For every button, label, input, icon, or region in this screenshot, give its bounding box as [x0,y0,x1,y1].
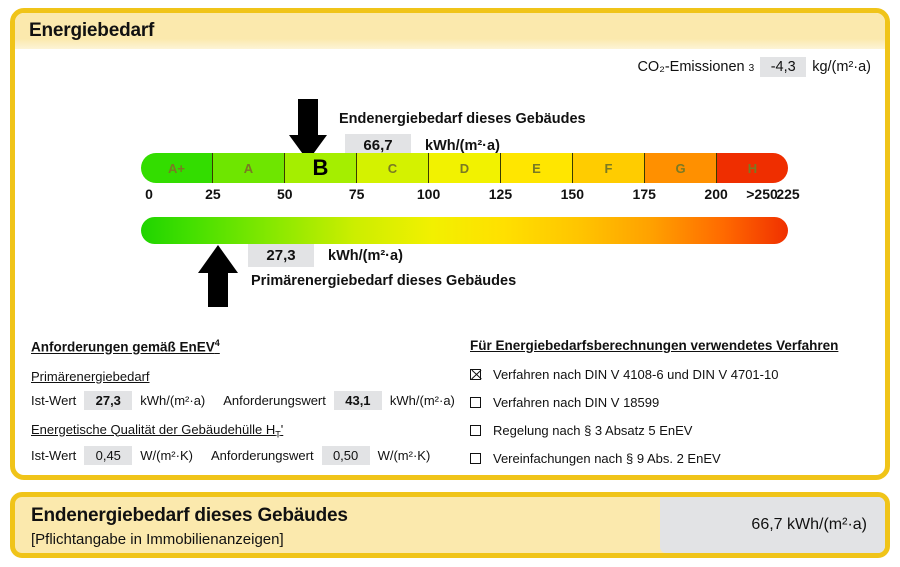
primary-required-value: 43,1 [334,391,382,410]
envelope-subheading-prime: ' [281,422,283,437]
checkbox-icon[interactable] [470,397,481,408]
energy-class-label: G [675,161,685,176]
method-heading: Für Energiebedarfsberechnungen verwendet… [470,338,880,353]
checkbox-checked-icon[interactable] [470,369,481,380]
envelope-actual-label: Ist-Wert [31,448,76,463]
final-energy-unit: kWh/(m²·a) [425,138,500,154]
footer-subtitle: [Pflichtangabe in Immobilienanzeigen] [31,531,348,548]
final-energy-label: Endenergiebedarf dieses Gebäudes [339,111,586,127]
requirements-heading: Anforderungen gemäß EnEV4 [31,338,471,355]
envelope-subheading-text: Energetische Qualität der Gebäudehülle H [31,422,275,437]
envelope-required-value: 0,50 [322,446,370,465]
energy-class-label: H [748,161,757,176]
method-option-label: Regelung nach § 3 Absatz 5 EnEV [493,423,692,438]
method-option-row[interactable]: Verfahren nach DIN V 4108-6 und DIN V 47… [470,367,880,382]
envelope-quality-subheading: Energetische Qualität der Gebäudehülle H… [31,422,471,440]
envelope-actual-value: 0,45 [84,446,132,465]
envelope-required-unit: W/(m²·K) [378,448,431,463]
footer-value: 66,7 kWh/(m²·a) [660,497,885,553]
checkbox-icon[interactable] [470,453,481,464]
primary-actual-unit: kWh/(m²·a) [140,393,205,408]
energy-scale-tick: 0 [145,186,153,202]
energy-certificate-page: Energiebedarf CO₂-Emissionen 3 -4,3 kg/(… [0,0,900,567]
energy-class-bar: A+ABCDEFGH [141,153,788,183]
primary-demand-values-row: Ist-Wert 27,3 kWh/(m²·a) Anforderungswer… [31,391,471,410]
energy-class-label: A [244,161,253,176]
calculation-method-column: Für Energiebedarfsberechnungen verwendet… [470,338,880,479]
footer-text-block: Endenergiebedarf dieses Gebäudes [Pflich… [31,505,348,548]
requirements-heading-text: Anforderungen gemäß EnEV [31,340,215,355]
primary-actual-label: Ist-Wert [31,393,76,408]
energy-scale-tick: 225 [776,186,799,202]
energy-scale-tick: 25 [205,186,221,202]
energy-class-label: C [388,161,397,176]
panel-header: Energiebedarf [15,13,885,49]
primary-energy-gradient-bar [141,217,788,244]
envelope-actual-unit: W/(m²·K) [140,448,193,463]
energy-class-segment-a: A [213,153,285,183]
footer-title: Endenergiebedarf dieses Gebäudes [31,505,348,527]
mandatory-disclosure-footer: Endenergiebedarf dieses Gebäudes [Pflich… [10,492,890,558]
energy-scale-tick: >250 [746,186,778,202]
energy-class-label: F [605,161,613,176]
final-energy-pointer-arrow-icon [289,99,327,161]
method-option-label: Vereinfachungen nach § 9 Abs. 2 EnEV [493,451,721,466]
energy-class-segment-c: C [357,153,429,183]
energy-scale-ticks: 0255075100125150175200225>250 [141,186,788,208]
primary-energy-value: 27,3 [248,244,314,267]
requirements-footnote-marker: 4 [215,338,220,348]
checkbox-icon[interactable] [470,425,481,436]
energy-scale-tick: 150 [561,186,584,202]
energy-class-label: E [532,161,541,176]
co2-label: CO₂-Emissionen [637,59,744,75]
energy-class-segment-e: E [501,153,573,183]
energy-scale-tick: 50 [277,186,293,202]
primary-energy-pointer-arrow-icon [198,245,238,307]
primary-energy-value-row: 27,3 kWh/(m²·a) [248,244,403,267]
primary-energy-label: Primärenergiebedarf dieses Gebäudes [251,273,516,289]
envelope-values-row: Ist-Wert 0,45 W/(m²·K) Anforderungswert … [31,446,471,465]
summer-heat-protection-checkbox[interactable] [307,479,318,480]
co2-footnote-marker: 3 [749,63,755,74]
primary-actual-value: 27,3 [84,391,132,410]
energy-class-segment-g: G [645,153,717,183]
energy-scale-tick: 75 [349,186,365,202]
energy-scale-tick: 100 [417,186,440,202]
energy-class-segment-f: F [573,153,645,183]
primary-required-label: Anforderungswert [223,393,326,408]
energy-class-label: B [313,155,329,181]
summer-heat-protection-row: Sommerlicher Wärmeschutz (bei Neubau) ei… [31,477,471,480]
energy-class-segment-h: H [717,153,788,183]
summer-heat-protection-label: Sommerlicher Wärmeschutz (bei Neubau) [31,477,273,480]
energy-class-label: A+ [168,161,185,176]
co2-emissions-row: CO₂-Emissionen 3 -4,3 kg/(m²·a) [637,57,871,77]
method-option-label: Verfahren nach DIN V 4108-6 und DIN V 47… [493,367,778,382]
energy-class-segment-b: B [285,153,357,183]
energy-scale-tick: 175 [633,186,656,202]
method-option-label: Verfahren nach DIN V 18599 [493,395,659,410]
energy-class-label: D [460,161,469,176]
method-option-row[interactable]: Regelung nach § 3 Absatz 5 EnEV [470,423,880,438]
method-option-row[interactable]: Verfahren nach DIN V 18599 [470,395,880,410]
energy-scale-tick: 200 [704,186,727,202]
envelope-required-label: Anforderungswert [211,448,314,463]
energy-class-scale: A+ABCDEFGH 0255075100125150175200225>250 [141,153,788,208]
primary-required-unit: kWh/(m²·a) [390,393,455,408]
summer-heat-protection-option: eingehalten [328,477,395,480]
energy-demand-panel: Energiebedarf CO₂-Emissionen 3 -4,3 kg/(… [10,8,890,480]
primary-energy-unit: kWh/(m²·a) [328,248,403,264]
page-title: Energiebedarf [15,20,154,42]
method-options-list: Verfahren nach DIN V 4108-6 und DIN V 47… [470,367,880,466]
energy-class-segment-aplus: A+ [141,153,213,183]
method-option-row[interactable]: Vereinfachungen nach § 9 Abs. 2 EnEV [470,451,880,466]
primary-demand-subheading: Primärenergiebedarf [31,369,471,384]
requirements-column: Anforderungen gemäß EnEV4 Primärenergieb… [31,338,471,480]
energy-class-segment-d: D [429,153,501,183]
co2-value: -4,3 [760,57,806,77]
energy-scale-tick: 125 [489,186,512,202]
co2-unit: kg/(m²·a) [812,59,871,75]
